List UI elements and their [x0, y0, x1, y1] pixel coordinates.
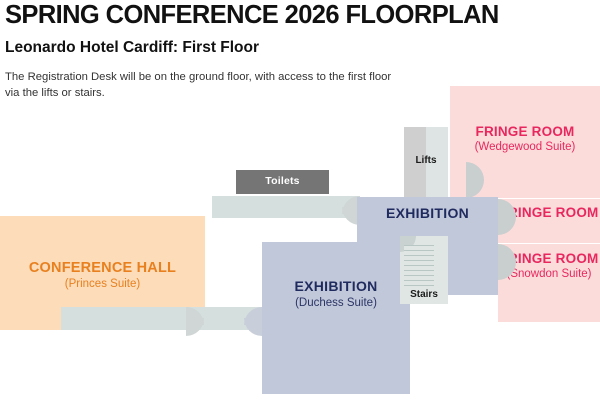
room-label: FRINGE ROOM (Wedgewood Suite): [450, 124, 600, 154]
room-exhibition-duchess[interactable]: EXHIBITION (Duchess Suite): [262, 242, 410, 394]
door-arc-icon: [244, 318, 262, 336]
room-label: CONFERENCE HALL (Princes Suite): [0, 260, 205, 292]
room-name: EXHIBITION: [262, 278, 410, 295]
room-label: EXHIBITION (Duchess Suite): [262, 278, 410, 310]
room-suite: (Wedgewood Suite): [450, 141, 600, 155]
stairs-label: Stairs: [400, 289, 448, 300]
room-toilets[interactable]: Toilets: [236, 170, 329, 194]
floorplan-page: SPRING CONFERENCE 2026 FLOORPLAN Leonard…: [0, 0, 600, 400]
stair-treads-icon: [404, 245, 434, 286]
intro-text: The Registration Desk will be on the gro…: [5, 70, 405, 101]
room-label: EXHIBITION: [357, 205, 498, 222]
lifts-block[interactable]: Lifts: [404, 127, 448, 197]
corridor-south: [61, 307, 266, 330]
stairs-block[interactable]: Stairs: [400, 236, 448, 304]
corridor-north: [212, 196, 360, 218]
room-suite: (Princes Suite): [0, 278, 205, 292]
room-suite: (Duchess Suite): [262, 297, 410, 311]
page-title: SPRING CONFERENCE 2026 FLOORPLAN: [5, 1, 499, 30]
room-name: EXHIBITION: [357, 205, 498, 222]
lifts-label: Lifts: [404, 155, 448, 166]
page-subtitle: Leonardo Hotel Cardiff: First Floor: [5, 39, 259, 57]
room-name: CONFERENCE HALL: [0, 260, 205, 277]
door-arc-icon: [186, 318, 204, 336]
toilets-label: Toilets: [236, 175, 329, 187]
room-name: FRINGE ROOM: [450, 124, 600, 140]
